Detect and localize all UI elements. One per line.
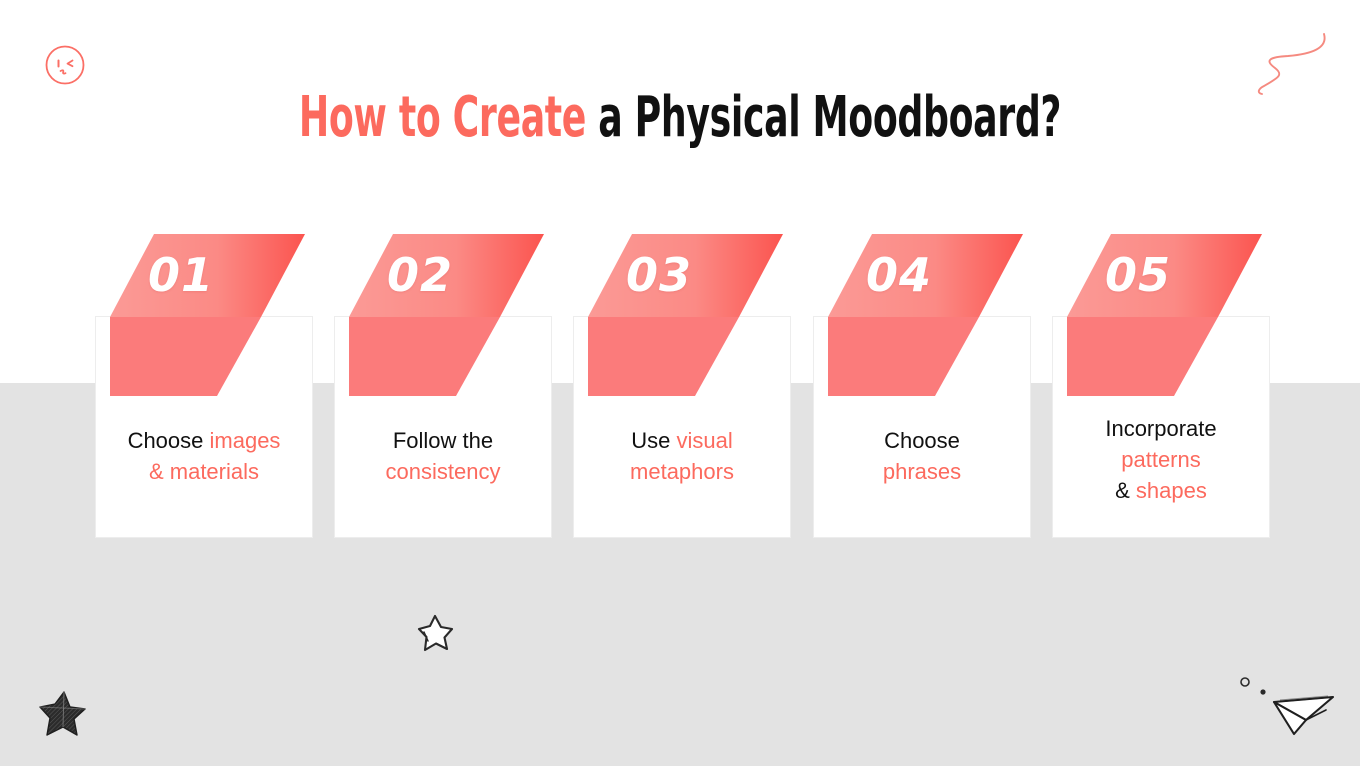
step-text-part: Choose bbox=[884, 428, 960, 453]
step-card-01[interactable]: 01 Choose images & materials bbox=[95, 316, 313, 538]
step-text-part-accent: patterns bbox=[1121, 447, 1201, 472]
step-text-part-accent: visual bbox=[677, 428, 733, 453]
step-text-line: phrases bbox=[820, 456, 1024, 487]
step-text-part-accent: consistency bbox=[386, 459, 501, 484]
step-card-04[interactable]: 04 Choose phrases bbox=[813, 316, 1031, 538]
step-text-line: & shapes bbox=[1059, 475, 1263, 506]
step-text-line: Follow the bbox=[341, 425, 545, 456]
step-card-05[interactable]: 05 Incorporate patterns & shapes bbox=[1052, 316, 1270, 538]
step-text-part: Use bbox=[631, 428, 676, 453]
squiggle-line-doodle-icon bbox=[1252, 28, 1336, 109]
step-text-line: consistency bbox=[341, 456, 545, 487]
step-text-part: Follow the bbox=[393, 428, 493, 453]
step-text-part: Incorporate bbox=[1105, 416, 1216, 441]
step-text-part-accent: & materials bbox=[149, 459, 259, 484]
step-text-04: Choose phrases bbox=[814, 425, 1030, 487]
step-text-02: Follow the consistency bbox=[335, 425, 551, 487]
step-text-line: Choose images bbox=[102, 425, 306, 456]
step-text-part-accent: phrases bbox=[883, 459, 961, 484]
steps-row: 01 Choose images & materials 02 bbox=[95, 316, 1271, 538]
step-text-line: patterns bbox=[1059, 444, 1263, 475]
page-title: How to Create a Physical Moodboard? bbox=[190, 84, 1169, 152]
step-card-03[interactable]: 03 Use visual metaphors bbox=[573, 316, 791, 538]
step-text-part-accent: metaphors bbox=[630, 459, 734, 484]
step-card-02[interactable]: 02 Follow the consistency bbox=[334, 316, 552, 538]
paper-plane-doodle-icon bbox=[1236, 670, 1340, 751]
step-text-03: Use visual metaphors bbox=[574, 425, 790, 487]
star-filled-doodle-icon bbox=[38, 688, 88, 745]
step-text-part: Choose bbox=[128, 428, 210, 453]
kissing-face-doodle-icon bbox=[44, 44, 86, 91]
page-title-accent: How to Create bbox=[299, 85, 586, 150]
step-text-part-accent: images bbox=[210, 428, 281, 453]
page-title-rest: a Physical Moodboard? bbox=[586, 85, 1061, 150]
step-text-01: Choose images & materials bbox=[96, 425, 312, 487]
step-text-05: Incorporate patterns & shapes bbox=[1053, 413, 1269, 506]
star-outline-doodle-icon bbox=[416, 612, 454, 659]
step-text-line: Use visual bbox=[580, 425, 784, 456]
step-text-line: metaphors bbox=[580, 456, 784, 487]
step-text-line: Incorporate bbox=[1059, 413, 1263, 444]
step-text-part-accent: shapes bbox=[1136, 478, 1207, 503]
step-text-line: & materials bbox=[102, 456, 306, 487]
step-text-part: & bbox=[1115, 478, 1136, 503]
step-text-line: Choose bbox=[820, 425, 1024, 456]
